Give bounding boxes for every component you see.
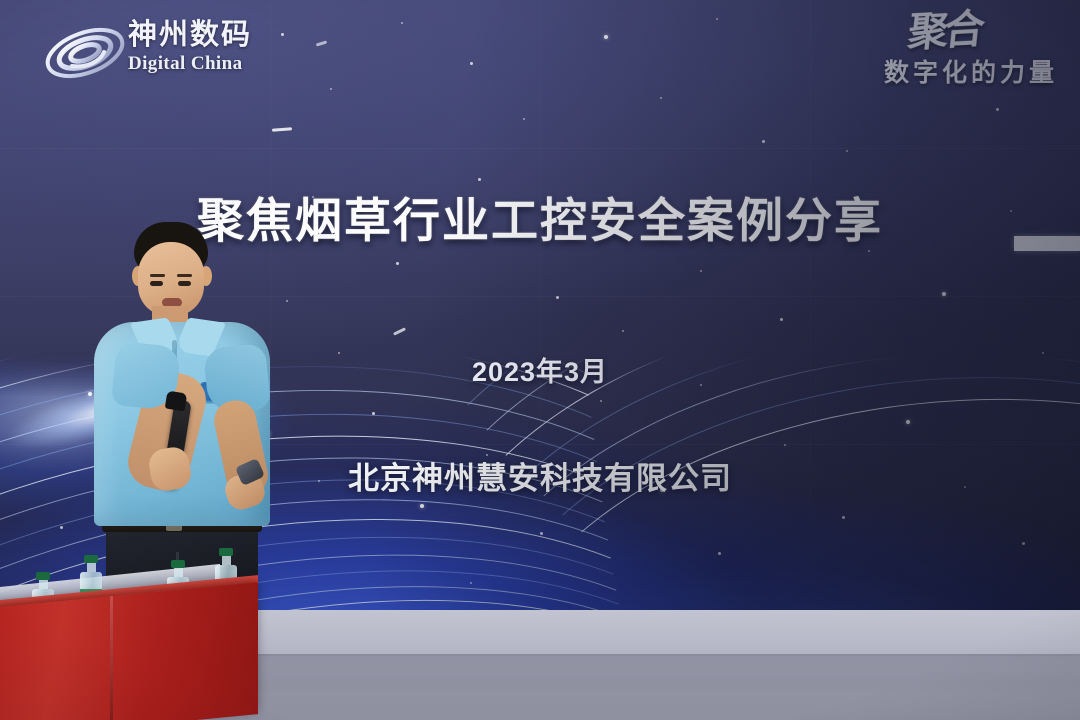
digital-china-swirl-icon bbox=[42, 22, 128, 84]
digital-china-logo: 神州数码 Digital China bbox=[42, 18, 310, 92]
red-table-drape bbox=[0, 582, 258, 720]
brand-name-cn: 神州数码 bbox=[128, 18, 308, 52]
speaker-face bbox=[138, 242, 204, 316]
event-logo: 聚合 数字化的力量 bbox=[806, 14, 1058, 114]
event-tagline: 数字化的力量 bbox=[806, 58, 1058, 88]
event-brush-title: 聚合 bbox=[803, 9, 982, 58]
conference-stage-photo: 神州数码 Digital China 聚合 数字化的力量 聚焦烟草行业工控安全案… bbox=[0, 0, 1080, 720]
brand-name-en: Digital China bbox=[128, 52, 308, 76]
